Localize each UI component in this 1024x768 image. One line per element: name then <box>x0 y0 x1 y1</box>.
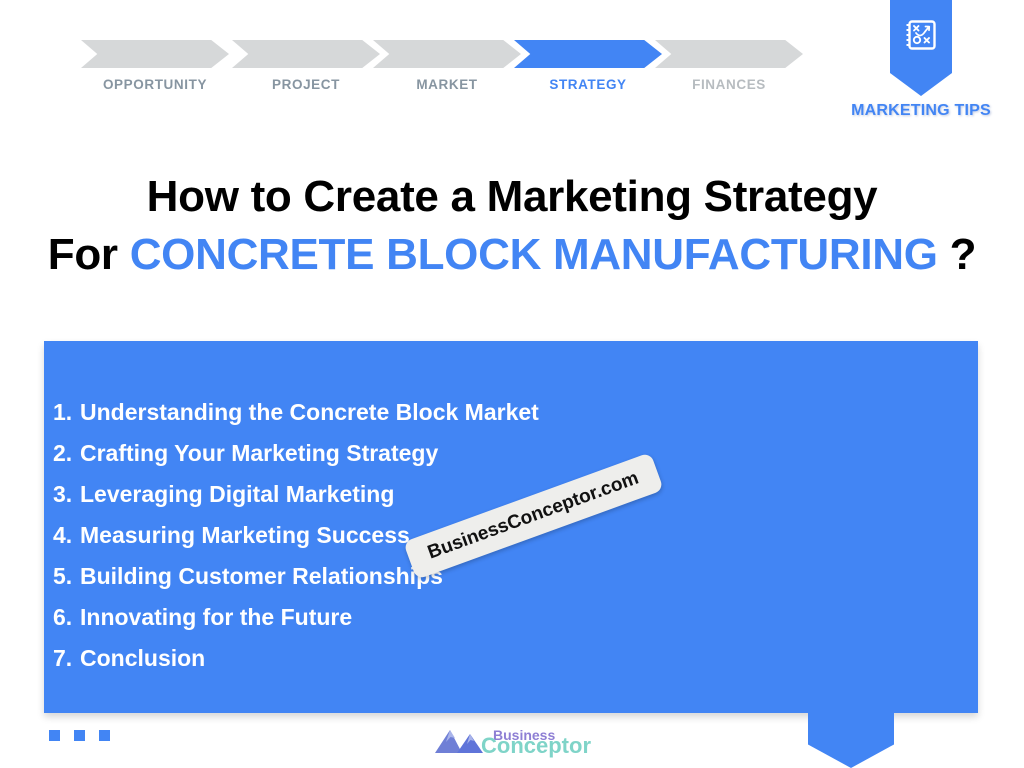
list-item-number: 4. <box>53 515 80 556</box>
list-item-label: Measuring Marketing Success <box>80 522 410 548</box>
bottom-ribbon-banner <box>808 706 894 768</box>
chevron-icon <box>655 40 803 68</box>
step-label: OPPORTUNITY <box>75 77 235 92</box>
list-item-number: 2. <box>53 433 80 474</box>
chevron-icon <box>373 40 521 68</box>
list-item-number: 3. <box>53 474 80 515</box>
dot-icon <box>74 730 85 741</box>
list-item[interactable]: 1.Understanding the Concrete Block Marke… <box>53 392 539 433</box>
chevron-icon <box>232 40 380 68</box>
title-subject: CONCRETE BLOCK MANUFACTURING <box>130 230 938 279</box>
list-item[interactable]: 2.Crafting Your Marketing Strategy <box>53 433 539 474</box>
list-item-label: Conclusion <box>80 645 205 671</box>
marketing-tips-label: MARKETING TIPS <box>846 102 996 120</box>
business-conceptor-logo: Business Conceptor <box>433 725 591 760</box>
strategy-playbook-icon <box>904 18 938 57</box>
title-prefix: For <box>48 230 130 279</box>
step-label: PROJECT <box>226 77 386 92</box>
list-item-number: 7. <box>53 638 80 679</box>
step-market[interactable]: MARKET <box>367 40 527 92</box>
list-item[interactable]: 3.Leveraging Digital Marketing <box>53 474 539 515</box>
list-item[interactable]: 5.Building Customer Relationships <box>53 556 539 597</box>
list-item-number: 5. <box>53 556 80 597</box>
ribbon-banner-shape <box>890 0 952 96</box>
dot-icon <box>99 730 110 741</box>
step-label: FINANCES <box>649 77 809 92</box>
step-strategy[interactable]: STRATEGY <box>508 40 668 92</box>
list-item-number: 6. <box>53 597 80 638</box>
list-item-number: 1. <box>53 392 80 433</box>
list-item-label: Leveraging Digital Marketing <box>80 481 394 507</box>
chevron-icon <box>514 40 662 68</box>
marketing-tips-logo: MARKETING TIPS <box>846 0 996 120</box>
page-title: How to Create a Marketing Strategy For C… <box>0 168 1024 284</box>
step-label: MARKET <box>367 77 527 92</box>
list-item-label: Building Customer Relationships <box>80 563 443 589</box>
dot-icon <box>49 730 60 741</box>
step-opportunity[interactable]: OPPORTUNITY <box>75 40 235 92</box>
list-item[interactable]: 7.Conclusion <box>53 638 539 679</box>
list-item-label: Understanding the Concrete Block Market <box>80 399 539 425</box>
list-item-label: Innovating for the Future <box>80 604 352 630</box>
list-item-label: Crafting Your Marketing Strategy <box>80 440 438 466</box>
step-project[interactable]: PROJECT <box>226 40 386 92</box>
step-finances[interactable]: FINANCES <box>649 40 809 92</box>
title-suffix: ? <box>938 230 977 279</box>
title-line-1: How to Create a Marketing Strategy <box>0 168 1024 226</box>
chevron-icon <box>81 40 229 68</box>
list-item[interactable]: 6.Innovating for the Future <box>53 597 539 638</box>
process-step-bar: OPPORTUNITY PROJECT MARKET STRATEGY FINA… <box>75 40 815 100</box>
title-line-2: For CONCRETE BLOCK MANUFACTURING ? <box>0 226 1024 284</box>
step-label: STRATEGY <box>508 77 668 92</box>
footer-wordmark: Business Conceptor <box>481 728 591 757</box>
footer-dots <box>49 730 110 741</box>
footer-word-conceptor: Conceptor <box>481 735 591 757</box>
